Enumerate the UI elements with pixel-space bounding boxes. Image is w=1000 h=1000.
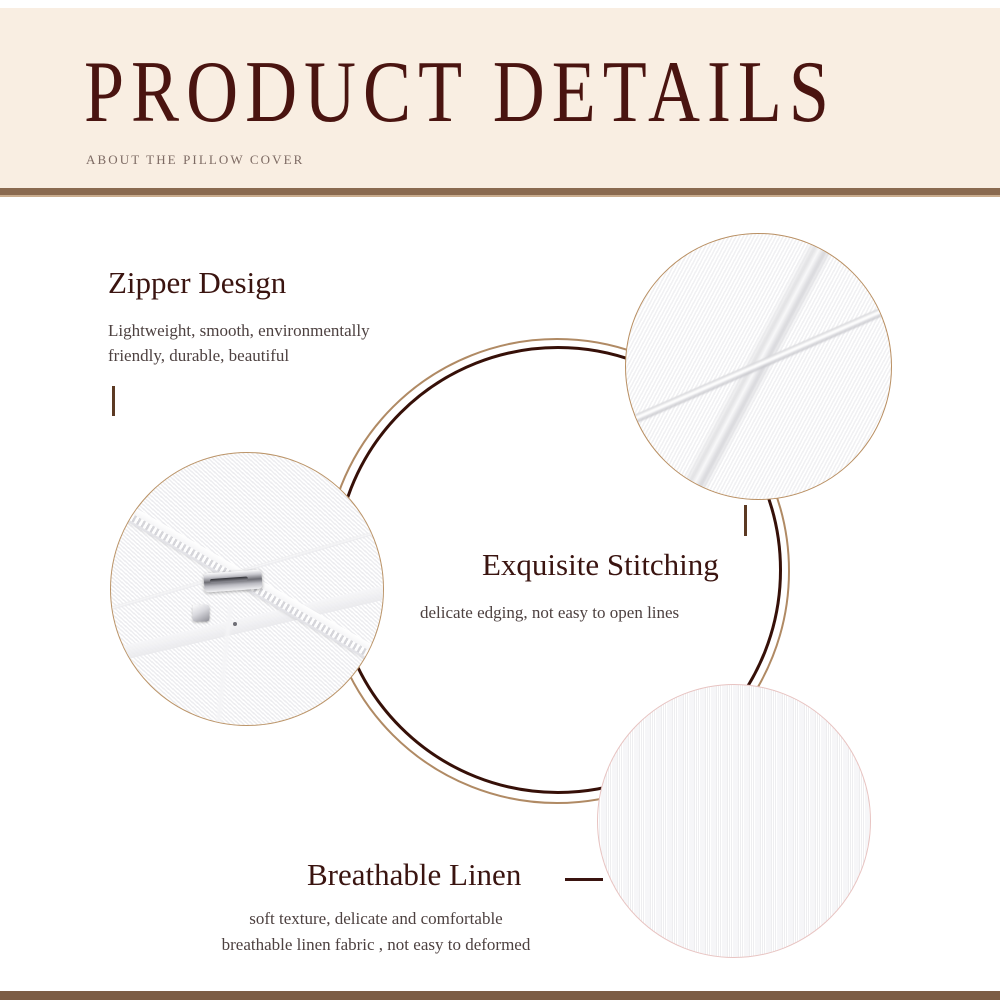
photo-circle-stitching: [625, 233, 892, 500]
product-details-infographic: PRODUCT DETAILS ABOUT THE PILLOW COVER Z…: [0, 0, 1000, 1000]
feature-body-linen-line2: breathable linen fabric , not easy to de…: [185, 932, 567, 958]
zipper-pull-tab: [204, 569, 263, 592]
seam-highlight: [625, 294, 892, 436]
feature-body-zipper-line1: Lightweight, smooth, environmentally: [108, 318, 488, 343]
page-title: PRODUCT DETAILS: [84, 48, 836, 136]
feature-heading-linen-dash: [565, 878, 603, 881]
feature-heading-stitching: Exquisite Stitching: [482, 547, 719, 583]
accent-tick-zipper: [112, 386, 115, 416]
feature-body-linen: soft texture, delicate and comfortable b…: [185, 906, 567, 958]
zipper-slider: [192, 605, 209, 622]
accent-tick-stitching: [744, 505, 747, 536]
feature-body-stitching: delicate edging, not easy to open lines: [420, 600, 679, 625]
feature-heading-linen: Breathable Linen: [307, 857, 521, 893]
header-divider-thin: [0, 195, 1000, 197]
header-divider-bar: [0, 188, 1000, 195]
bottom-border-bar: [0, 991, 1000, 1000]
feature-body-zipper-line2: friendly, durable, beautiful: [108, 343, 488, 368]
feature-body-zipper: Lightweight, smooth, environmentally fri…: [108, 318, 488, 368]
feature-heading-zipper: Zipper Design: [108, 265, 286, 301]
feature-body-linen-line1: soft texture, delicate and comfortable: [185, 906, 567, 932]
photo-circle-linen: [597, 684, 871, 958]
photo-circle-zipper: [110, 452, 384, 726]
page-subtitle: ABOUT THE PILLOW COVER: [86, 152, 304, 168]
zipper-pull-slit: [210, 577, 248, 584]
